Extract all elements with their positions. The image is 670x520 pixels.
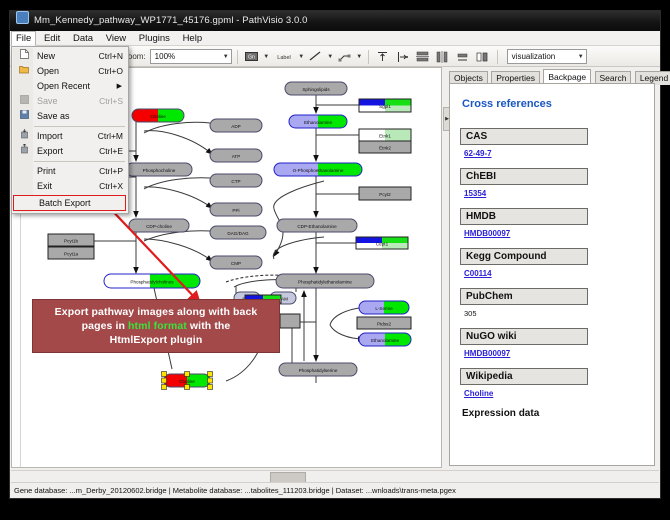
distribute-horizontal-icon[interactable] (434, 48, 452, 65)
xref-header-cas: CAS (460, 128, 588, 145)
pathway-gene-etnk1[interactable]: Etnk1 (359, 129, 411, 141)
pathway-node-ctp[interactable]: CTP (210, 174, 262, 187)
selection-handle (162, 385, 167, 390)
gene-label: Sgpl1 (379, 104, 391, 109)
pathway-node-cdp-etha[interactable]: CDP-Ethanolamine (277, 219, 357, 232)
menu-item-new-accel: Ctrl+N (99, 49, 128, 64)
menu-item-open-recent-label: Open Recent (34, 79, 117, 94)
menu-file[interactable]: File (11, 31, 36, 46)
xref-header-chebi: ChEBI (460, 168, 588, 185)
side-panel-tabs: Objects Properties Backpage Search Legen… (449, 69, 659, 84)
xref-header-pubchem: PubChem (460, 288, 588, 305)
menu-view[interactable]: View (101, 31, 131, 46)
pathway-node-ophosphoetha[interactable]: O-Phosphoethanolamine (274, 163, 362, 176)
menu-item-import-accel: Ctrl+M (98, 129, 128, 144)
line-icon[interactable] (307, 48, 325, 65)
annotation-callout: Export pathway images along with back pa… (32, 299, 280, 353)
annotation-highlight: html format (128, 320, 187, 332)
folder-open-icon (14, 64, 34, 79)
pathway-node-phosphocholine[interactable]: Phosphocholine (126, 163, 192, 176)
title-bar: Mm_Kennedy_pathway_WP1771_45176.gpml - P… (10, 11, 660, 31)
toolbar-separator (237, 50, 238, 64)
node-label: Phosphatidylcholines (130, 280, 174, 285)
zoom-value: 100% (155, 52, 175, 61)
menu-help[interactable]: Help (178, 31, 208, 46)
xref-link-kegg[interactable]: C00114 (464, 269, 646, 278)
menu-item-batch-export-label: Batch Export (36, 196, 125, 210)
gene-label: Etnk1 (379, 133, 391, 138)
pathway-gene-pcyt2[interactable]: Pcyt2 (359, 187, 411, 200)
xref-link-hmdb[interactable]: HMDB00097 (464, 229, 646, 238)
node-label: CDP-Ethanolamine (297, 224, 337, 229)
menu-item-exit-accel: Ctrl+X (99, 179, 128, 194)
node-label: Choline (179, 379, 195, 384)
pathway-node-l-serine[interactable]: L-Serine (359, 301, 409, 314)
menu-item-batch-export[interactable]: Batch Export (13, 195, 126, 211)
svg-text:Label: Label (277, 55, 290, 61)
selection-handle (208, 385, 213, 390)
label-dropdown-icon[interactable]: ▼ (298, 54, 305, 60)
gene-label: Cept1 (376, 241, 389, 246)
pathway-node-atp[interactable]: ATP (210, 149, 262, 162)
pathway-node-cmp[interactable]: CMP (210, 256, 262, 269)
menu-item-save-as[interactable]: Save as (12, 109, 128, 124)
menu-item-save-accel: Ctrl+S (99, 94, 128, 109)
node-label: Phosphocholine (143, 168, 176, 173)
chevron-down-icon-2: ▼ (578, 54, 584, 60)
pathway-node-ppi[interactable]: PPi (210, 203, 262, 216)
node-label: Phosphatidylserine (299, 368, 338, 373)
node-label: Ethanolamine (304, 120, 333, 125)
node-label: Ethanolamine (371, 338, 400, 343)
visualization-value: visualization (512, 52, 556, 61)
side-panel: ▶ Objects Properties Backpage Search Leg… (443, 67, 659, 468)
annotation-line-2a: pages in (82, 320, 128, 332)
application-window: Mm_Kennedy_pathway_WP1771_45176.gpml - P… (9, 10, 661, 499)
selection-handle (162, 378, 167, 383)
window-title: Mm_Kennedy_pathway_WP1771_45176.gpml - P… (34, 15, 308, 26)
pathvisio-icon (16, 11, 29, 24)
node-label: ADP (231, 124, 240, 129)
menu-item-exit[interactable]: Exit Ctrl+X (12, 179, 128, 194)
xref-header-wikipedia: Wikipedia (460, 368, 588, 385)
new-document-icon (14, 49, 34, 64)
pathway-node-ethanolamine[interactable]: Ethanolamine (289, 115, 347, 128)
svg-text:Gn: Gn (248, 55, 255, 61)
node-label: CMP (231, 261, 241, 266)
interaction-icon[interactable] (336, 48, 354, 65)
menu-item-export[interactable]: Export Ctrl+E (12, 144, 128, 159)
interaction-dropdown-icon[interactable]: ▼ (356, 54, 363, 60)
menu-item-exit-label: Exit (34, 179, 99, 194)
annotation-line-1: Export pathway images along with back (33, 305, 279, 319)
expression-data-title: Expression data (462, 408, 646, 419)
menu-separator-2 (34, 161, 125, 162)
menu-item-print-accel: Ctrl+P (99, 164, 128, 179)
save-icon (14, 94, 34, 109)
xref-value-pubchem: 305 (464, 309, 646, 318)
selection-handle (208, 378, 213, 383)
pathway-gene-etnk2[interactable]: Etnk2 (359, 141, 411, 153)
selection-handle (208, 372, 213, 377)
pathway-node-ethanolamine2[interactable]: Ethanolamine (359, 333, 411, 346)
menu-edit[interactable]: Edit (39, 31, 65, 46)
selection-handle (185, 372, 190, 377)
menu-data[interactable]: Data (68, 31, 98, 46)
menu-item-new[interactable]: New Ctrl+N (12, 49, 128, 64)
pathway-node-adp[interactable]: ADP (210, 119, 262, 132)
selection-handle (162, 372, 167, 377)
xref-link-wikipedia[interactable]: Choline (464, 389, 646, 398)
pathway-gene-cept1[interactable]: Cept1 (356, 237, 408, 249)
gene-label: Pcyt1b (64, 238, 78, 243)
menu-item-print-label: Print (34, 164, 99, 179)
pathway-node-cdp-choline[interactable]: CDP-choline (129, 219, 189, 232)
gene-label: Pcyt2 (379, 192, 391, 197)
toolbar-separator-3 (497, 50, 498, 64)
status-bar: Gene database: ...m_Derby_20120602.bridg… (11, 482, 659, 497)
align-top-icon[interactable] (374, 48, 392, 65)
gene-label: Pcyt1a (64, 251, 78, 256)
pathway-node-ptdchol[interactable]: Phosphatidylcholines (104, 274, 200, 288)
menu-item-print[interactable]: Print Ctrl+P (12, 164, 128, 179)
import-icon (14, 129, 34, 144)
visualization-combobox[interactable]: visualization ▼ (507, 49, 587, 64)
xref-link-cas[interactable]: 62-49-7 (464, 149, 646, 158)
gene-label: Ptdss2 (377, 321, 391, 326)
pathway-node-ptdserine[interactable]: Phosphatidylserine (279, 363, 357, 376)
menu-item-open[interactable]: Open Ctrl+O (12, 64, 128, 79)
node-label: L-Serine (375, 306, 393, 311)
node-label: O-Phosphoethanolamine (293, 168, 344, 173)
pathway-gene-sgpl1[interactable]: Sgpl1 (359, 99, 411, 112)
xref-header-hmdb: HMDB (460, 208, 588, 225)
pathway-gene-pcyt1b[interactable]: Pcyt1b (48, 234, 94, 246)
datanode-icon[interactable]: Gn (243, 48, 261, 65)
menu-item-import[interactable]: Import Ctrl+M (12, 129, 128, 144)
node-label: Phosphatidylethanolamine (298, 280, 352, 285)
menu-item-import-label: Import (34, 129, 98, 144)
line-dropdown-icon[interactable]: ▼ (327, 54, 334, 60)
chevron-down-icon: ▼ (223, 54, 229, 60)
node-label: CTP (231, 179, 240, 184)
menu-item-export-label: Export (34, 144, 99, 159)
menu-item-export-accel: Ctrl+E (99, 144, 128, 159)
menu-item-save-as-label: Save as (34, 109, 123, 124)
gene-label: Etnk2 (379, 145, 391, 150)
xref-link-chebi[interactable]: 15354 (464, 189, 646, 198)
pathway-gene-ptdss2[interactable]: Ptdss2 (357, 317, 411, 329)
horizontal-scrollbar[interactable] (11, 470, 659, 482)
pathway-node-ptdetha[interactable]: Phosphatidylethanolamine (276, 274, 374, 288)
file-menu-popup[interactable]: New Ctrl+N Open Ctrl+O Open Recent ▶ Sav… (11, 46, 129, 214)
pathway-node-dag[interactable]: DAG/DAG (210, 226, 266, 239)
cross-references-title: Cross references (462, 98, 646, 110)
same-width-icon[interactable] (454, 48, 472, 65)
export-icon (14, 144, 34, 159)
annotation-line-2: pages in html format with the (33, 319, 279, 333)
xref-link-nugo[interactable]: HMDB00097 (464, 349, 646, 358)
pathway-node-sphingolipids[interactable]: Sphingolipids (285, 82, 347, 95)
annotation-line-2b: with the (187, 320, 230, 332)
node-label: CDP-choline (146, 224, 172, 229)
menu-item-open-label: Open (34, 64, 98, 79)
annotation-line-3: HtmlExport plugin (33, 333, 279, 347)
screenshot-root: Mm_Kennedy_pathway_WP1771_45176.gpml - P… (0, 0, 670, 509)
xref-header-kegg: Kegg Compound (460, 248, 588, 265)
menu-item-open-accel: Ctrl+O (98, 64, 128, 79)
distribute-vertical-icon[interactable] (414, 48, 432, 65)
node-label: DAG/DAG (227, 231, 249, 236)
backpage-content: Cross references CAS 62-49-7 ChEBI 15354… (449, 83, 655, 466)
node-label: Sphingolipids (302, 87, 330, 92)
save-as-icon (14, 109, 34, 124)
xref-header-nugo: NuGO wiki (460, 328, 588, 345)
label-icon[interactable]: Label (272, 48, 296, 65)
pathway-node-choline2[interactable]: Choline (162, 372, 213, 390)
pathway-gene-pemt[interactable] (280, 314, 300, 328)
menu-bar: File Edit Data View Plugins Help (10, 31, 660, 46)
zoom-combobox[interactable]: 100% ▼ (150, 49, 232, 64)
node-label: ATP (232, 154, 241, 159)
pathway-node-choline[interactable]: Choline (132, 109, 184, 122)
same-height-icon[interactable] (474, 48, 492, 65)
node-label: Choline (150, 114, 166, 119)
menu-item-new-label: New (34, 49, 99, 64)
datanode-dropdown-icon[interactable]: ▼ (263, 54, 270, 60)
toolbar-separator-2 (368, 50, 369, 64)
node-label: PPi (232, 208, 239, 213)
menu-item-save[interactable]: Save Ctrl+S (12, 94, 128, 109)
pathway-gene-pcyt1a[interactable]: Pcyt1a (48, 247, 94, 259)
selection-handle (185, 385, 190, 390)
menu-item-save-label: Save (34, 94, 99, 109)
menu-separator-1 (34, 126, 125, 127)
menu-item-open-recent[interactable]: Open Recent ▶ (12, 79, 128, 94)
menu-plugins[interactable]: Plugins (134, 31, 175, 46)
align-left-icon[interactable] (394, 48, 412, 65)
submenu-arrow-icon: ▶ (117, 79, 128, 94)
